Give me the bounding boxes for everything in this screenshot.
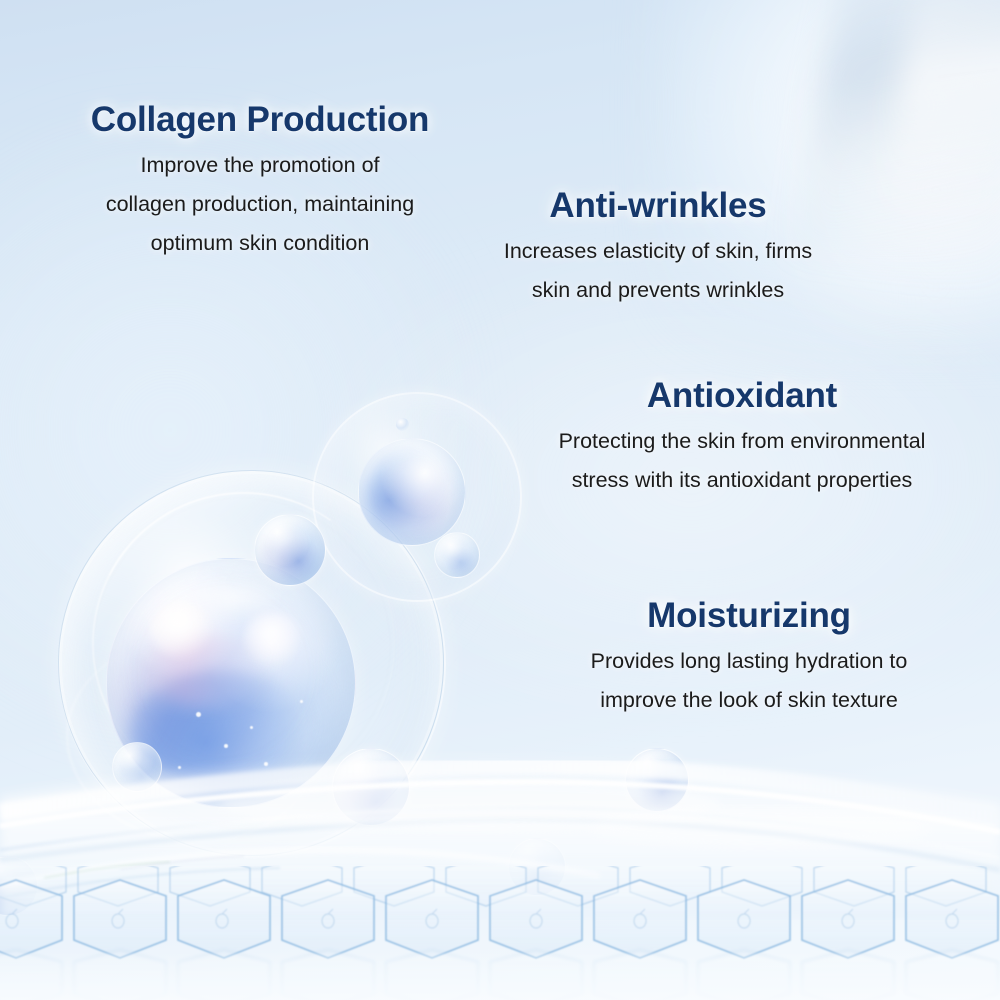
benefit-line: Improve the promotion of (88, 146, 432, 185)
benefit-description-anti-wrinkles: Increases elasticity of skin, firms skin… (488, 232, 828, 310)
benefit-title-anti-wrinkles: Anti-wrinkles (488, 187, 828, 225)
benefit-line: optimum skin condition (88, 224, 432, 263)
benefit-description-collagen-production: Improve the promotion of collagen produc… (88, 146, 432, 263)
medium-bubble-speck (396, 418, 409, 431)
benefit-description-antioxidant: Protecting the skin from environmental s… (532, 422, 952, 500)
benefit-title-collagen-production: Collagen Production (88, 101, 432, 139)
benefit-line: skin and prevents wrinkles (488, 271, 828, 310)
medium-bubble-core (358, 438, 466, 546)
benefit-line: collagen production, maintaining (88, 185, 432, 224)
benefit-line: Protecting the skin from environmental (532, 422, 952, 461)
cell-texture-fade (0, 952, 1000, 1000)
benefit-line: improve the look of skin texture (552, 681, 946, 720)
benefit-block-anti-wrinkles: Anti-wrinkles Increases elasticity of sk… (488, 187, 828, 310)
core-sphere-highlight-right (244, 612, 302, 664)
benefit-line: stress with its antioxidant properties (532, 461, 952, 500)
benefit-block-moisturizing: Moisturizing Provides long lasting hydra… (552, 597, 946, 720)
medium-bubble-satellite (434, 532, 480, 578)
benefit-title-moisturizing: Moisturizing (552, 597, 946, 635)
infographic-canvas: Collagen Production Improve the promotio… (0, 0, 1000, 1000)
benefit-block-antioxidant: Antioxidant Protecting the skin from env… (532, 377, 952, 500)
benefit-line: Increases elasticity of skin, firms (488, 232, 828, 271)
benefit-line: Provides long lasting hydration to (552, 642, 946, 681)
small-bubble-on-rim (254, 514, 326, 586)
benefit-description-moisturizing: Provides long lasting hydration to impro… (552, 642, 946, 720)
core-sphere-highlight-top (188, 578, 280, 620)
benefit-block-collagen-production: Collagen Production Improve the promotio… (88, 101, 432, 263)
benefit-title-antioxidant: Antioxidant (532, 377, 952, 415)
